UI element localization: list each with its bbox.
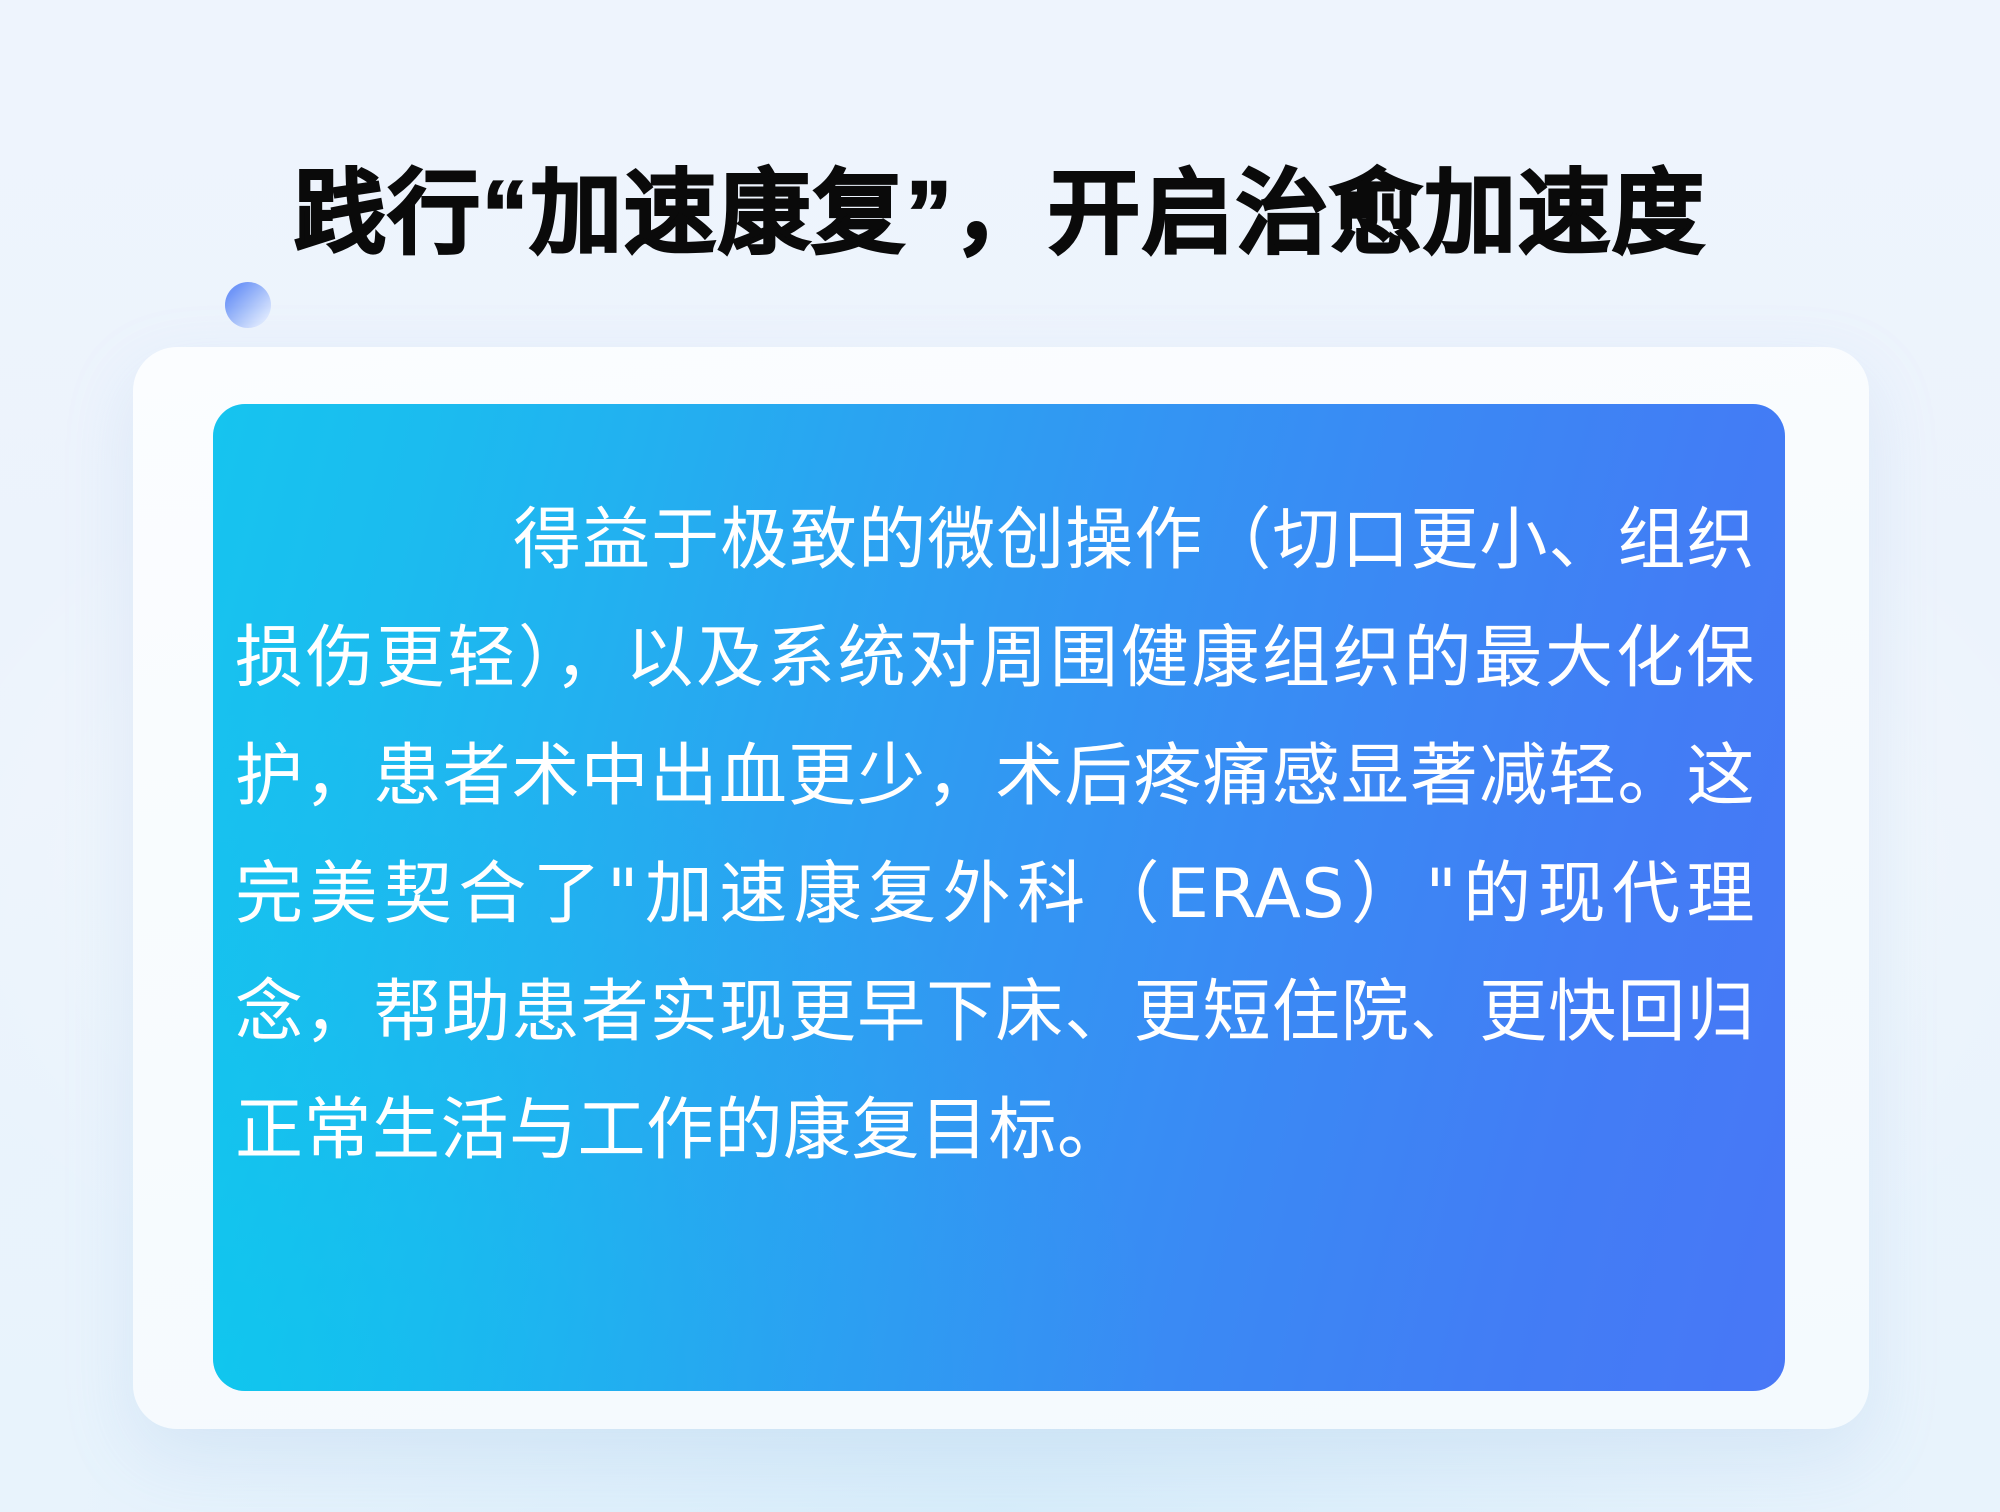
content-card-inner: 得益于极致的微创操作（切口更小、组织损伤更轻），以及系统对周围健康组织的最大化保…: [213, 404, 1785, 1391]
poster-page: 践行“加速康复”，开启治愈加速度 得益于极致的微创操作（切口更小、组织损伤更轻）…: [0, 0, 2000, 1512]
blue-gradient-dot-icon: [225, 282, 271, 328]
page-title: 践行“加速康复”，开启治愈加速度: [0, 154, 2000, 274]
title-row: 践行“加速康复”，开启治愈加速度: [0, 92, 2000, 232]
content-card-outer: 得益于极致的微创操作（切口更小、组织损伤更轻），以及系统对周围健康组织的最大化保…: [133, 347, 1869, 1429]
body-paragraph: 得益于极致的微创操作（切口更小、组织损伤更轻），以及系统对周围健康组织的最大化保…: [213, 404, 1785, 1190]
